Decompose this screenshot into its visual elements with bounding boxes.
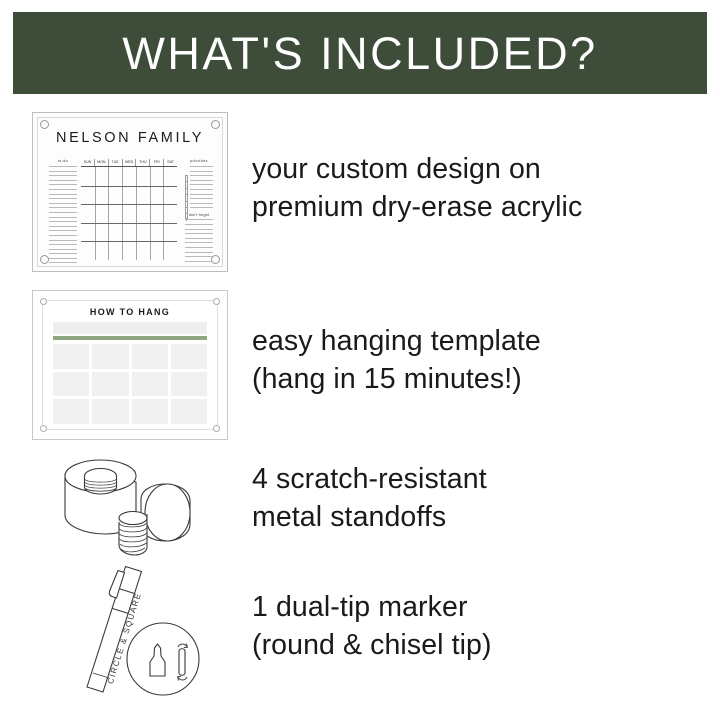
board-dont-forget-label: don't forget — [185, 213, 213, 217]
board-weekday-wed: WED — [123, 159, 137, 166]
feature-text-marker: 1 dual-tip marker (round & chisel tip) — [252, 589, 492, 665]
metal-standoffs-illustration — [57, 452, 197, 557]
template-cell — [53, 399, 89, 424]
standoff-screw-icon — [40, 120, 49, 129]
board-grid: to-do SUN MON TUE WED THU FRI SAT — [49, 159, 213, 259]
template-cell — [171, 344, 207, 369]
template-corner-mark-icon — [213, 425, 220, 432]
board-priorities-lines — [190, 166, 213, 208]
board-priorities-label: priorities — [185, 159, 213, 164]
board-month-grid: SUN MON TUE WED THU FRI SAT — [81, 159, 177, 259]
template-corner-mark-icon — [40, 298, 47, 305]
template-cell — [92, 372, 128, 397]
template-cell — [53, 372, 89, 397]
board-weekday-fri: FRI — [150, 159, 164, 166]
template-title: HOW TO HANG — [33, 307, 227, 317]
board-weekday-sat: SAT — [164, 159, 177, 166]
board-weekday-header: SUN MON TUE WED THU FRI SAT — [81, 159, 177, 167]
template-cell — [53, 344, 89, 369]
board-weekday-mon: MON — [95, 159, 109, 166]
board-month-cells — [81, 167, 177, 260]
page-title: WHAT'S INCLUDED? — [122, 31, 597, 76]
board-todo-label: to-do — [49, 159, 77, 164]
template-cell — [132, 344, 168, 369]
standoff-screw-icon — [40, 255, 49, 264]
marker-icon: CIRCLE & SQUARE — [62, 556, 202, 696]
board-dont-forget-lines — [185, 219, 213, 261]
standoffs-icon — [57, 452, 197, 557]
hanging-template-illustration: HOW TO HANG — [32, 290, 228, 440]
calendar-board-illustration: NELSON FAMILY to-do SUN MON TUE WED THU … — [32, 112, 228, 272]
template-corner-mark-icon — [213, 298, 220, 305]
dual-tip-marker-illustration: CIRCLE & SQUARE — [62, 556, 202, 696]
template-accent-bar — [53, 336, 207, 340]
board-weekday-sun: SUN — [81, 159, 95, 166]
standoff-screw-icon — [211, 120, 220, 129]
board-family-name: NELSON FAMILY — [33, 130, 227, 146]
template-cell — [92, 399, 128, 424]
feature-row-marker: 1 dual-tip marker (round & chisel tip) — [252, 584, 652, 670]
feature-row-acrylic: your custom design on premium dry-erase … — [252, 146, 702, 232]
template-cell — [171, 399, 207, 424]
board-priorities-checkboxes — [185, 175, 188, 219]
feature-text-template: easy hanging template (hang in 15 minute… — [252, 323, 541, 399]
feature-row-template: easy hanging template (hang in 15 minute… — [252, 318, 682, 404]
board-weekday-thu: THU — [136, 159, 150, 166]
header-banner: WHAT'S INCLUDED? — [13, 12, 707, 94]
board-priorities-column: priorities don't forget — [185, 159, 213, 259]
template-cell — [132, 372, 168, 397]
template-cell — [92, 344, 128, 369]
template-cell-grid — [53, 344, 207, 424]
board-weekday-tue: TUE — [109, 159, 123, 166]
template-corner-mark-icon — [40, 425, 47, 432]
board-todo-column: to-do — [49, 159, 77, 259]
template-cell — [132, 399, 168, 424]
feature-row-standoffs: 4 scratch-resistant metal standoffs — [252, 456, 652, 542]
feature-text-standoffs: 4 scratch-resistant metal standoffs — [252, 461, 487, 537]
template-cell — [171, 372, 207, 397]
template-header-band — [53, 322, 207, 334]
board-todo-lines — [49, 166, 77, 263]
feature-text-acrylic: your custom design on premium dry-erase … — [252, 151, 582, 227]
